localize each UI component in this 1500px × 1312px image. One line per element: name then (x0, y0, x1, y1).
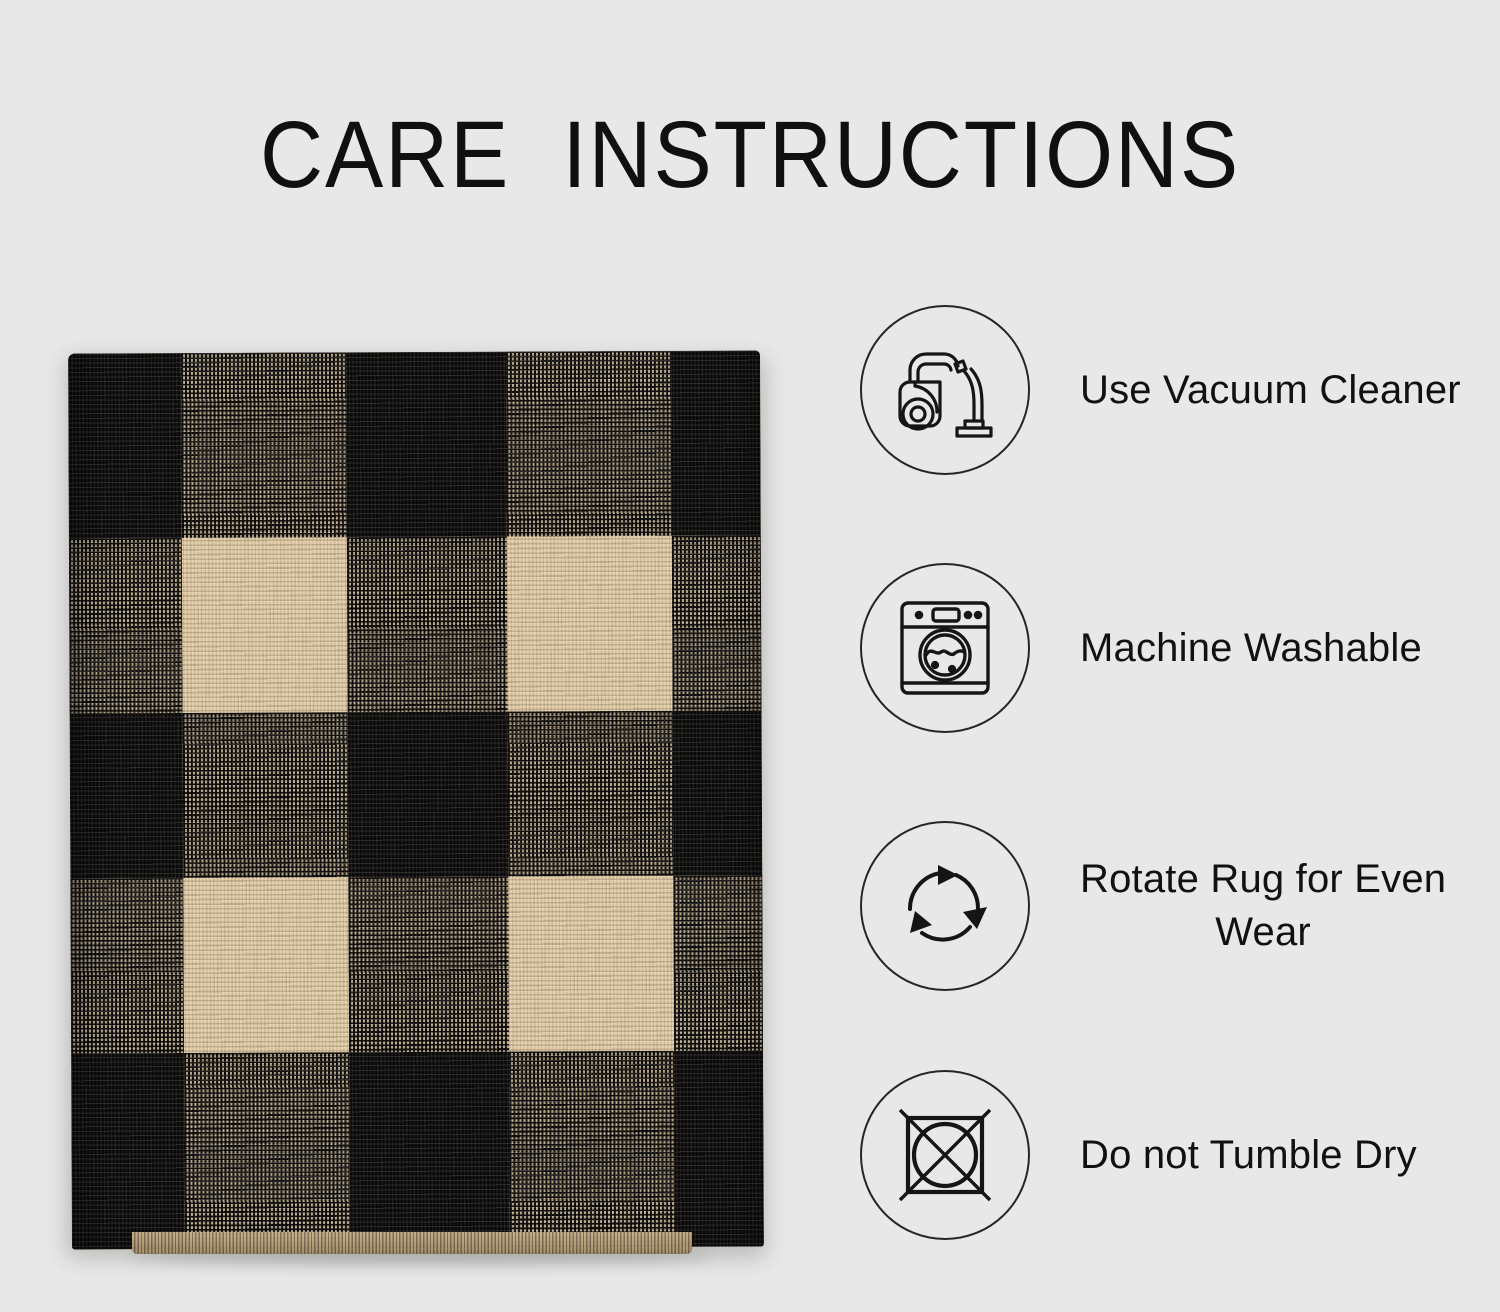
rug-fleck-mask (69, 538, 183, 713)
care-instructions-page: CARE INSTRUCTIONS (0, 0, 1500, 1312)
rug-cell (673, 875, 763, 1050)
rug-fleck-mask (181, 352, 347, 538)
rug-fleck-mask (183, 712, 349, 878)
rug-cell (348, 877, 509, 1053)
rug-cell (673, 710, 763, 875)
vacuum-cleaner-icon (860, 305, 1030, 475)
rug-fleck-mask (348, 877, 509, 1053)
rug-fleck-overlay (509, 1051, 675, 1248)
rug-cell (183, 877, 349, 1053)
rug-cell (671, 350, 761, 535)
rug-fleck-overlay (348, 877, 509, 1053)
rug-fleck-overlay (506, 351, 672, 537)
rug-fleck-mask (672, 535, 762, 710)
rug-cell (674, 1050, 764, 1246)
rug-cell (71, 1053, 185, 1249)
rug-fleck-mask (347, 537, 508, 713)
rug-fleck-mask (506, 351, 672, 537)
rug-fleck-overlay (181, 352, 347, 538)
instruction-label-rotate: Rotate Rug for Even Wear (1080, 853, 1446, 959)
rug-fleck-overlay (347, 537, 508, 713)
rug-cell (672, 535, 762, 710)
rug-cell (508, 711, 674, 877)
rug-fleck-overlay (673, 875, 763, 1050)
rug-cell (68, 353, 182, 538)
rug-fabric (68, 350, 764, 1249)
rug-cell (183, 712, 349, 878)
product-image-rug (62, 352, 762, 1252)
rug-cell (506, 351, 672, 537)
rug-cell (346, 352, 507, 538)
rug-cell (181, 352, 347, 538)
rotate-arrows-icon (860, 821, 1030, 991)
rug-fleck-overlay (69, 538, 183, 713)
instruction-item-rotate: Rotate Rug for Even Wear (860, 821, 1480, 991)
instruction-item-machine-wash: Machine Washable (860, 563, 1480, 733)
instruction-label-machine-wash: Machine Washable (1080, 622, 1422, 675)
do-not-tumble-dry-icon (860, 1070, 1030, 1240)
rug-fleck-overlay (183, 712, 349, 878)
rug-cell (182, 537, 348, 713)
rug-cell (70, 878, 184, 1053)
page-title: CARE INSTRUCTIONS (60, 108, 1440, 203)
rug-mixed-intersections (68, 350, 760, 353)
rug-fleck-overlay (70, 878, 184, 1053)
rug-fleck-mask (673, 875, 763, 1050)
rug-cell (347, 537, 508, 713)
instruction-item-no-tumble-dry: Do not Tumble Dry (860, 1070, 1480, 1240)
washing-machine-icon (860, 563, 1030, 733)
rug-cell (184, 1052, 350, 1249)
rug-fleck-overlay (672, 535, 762, 710)
rug-fleck-mask (509, 1051, 675, 1248)
rug-cell (507, 536, 673, 712)
instruction-item-vacuum: Use Vacuum Cleaner (860, 305, 1480, 475)
rug-cell (348, 712, 509, 878)
rug-cell (508, 876, 674, 1052)
rug-fleck-overlay (184, 1052, 350, 1249)
rug-cell (349, 1052, 510, 1249)
instruction-label-vacuum: Use Vacuum Cleaner (1080, 364, 1461, 417)
rug-fleck-mask (70, 878, 184, 1053)
instruction-label-no-tumble-dry: Do not Tumble Dry (1080, 1129, 1417, 1182)
rug-cell (509, 1051, 675, 1248)
rug-cell (70, 713, 184, 878)
rug-cell (69, 538, 183, 713)
rug-fleck-mask (508, 711, 674, 877)
rug-fleck-mask (184, 1052, 350, 1249)
rug-folded-lip (132, 1232, 692, 1254)
rug-fleck-overlay (508, 711, 674, 877)
